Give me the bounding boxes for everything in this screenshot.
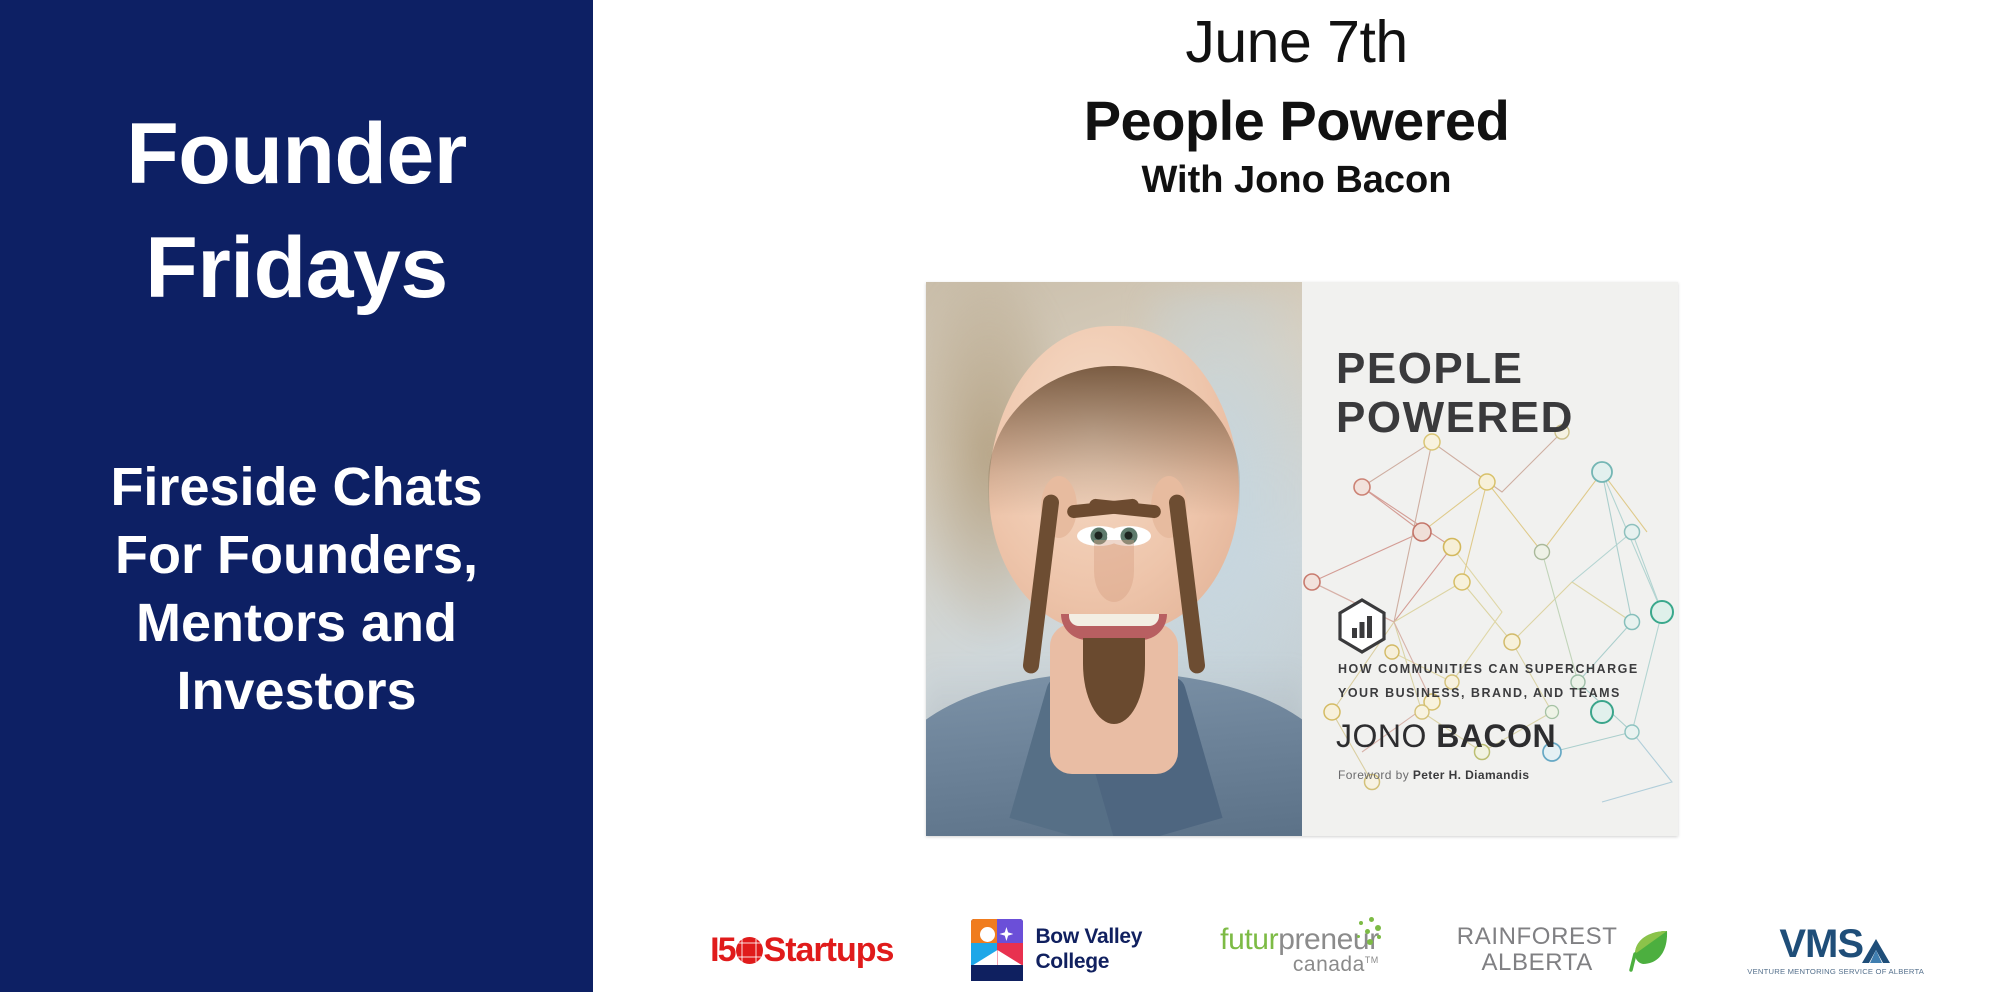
headline-block: June 7th People Powered With Jono Bacon [593,12,2000,202]
brand-title-line-2: Fridays [28,212,565,326]
logo-150-mark: I5 [710,931,734,970]
book-foreword: Foreword by Peter H. Diamandis [1338,768,1529,782]
vmsa-wordmark: VMS [1779,924,1893,964]
rainforest-line-2: ALBERTA [1457,950,1618,976]
speaker-nose [1094,540,1134,602]
bow-valley-wordmark: Bow Valley College [1035,925,1142,975]
brand-tagline-line-1: Fireside Chats [28,453,565,521]
brand-panel: Founder Fridays Fireside Chats For Found… [0,0,593,992]
content-panel: June 7th People Powered With Jono Bacon [593,0,2000,1000]
book-title-line-2: POWERED [1336,393,1574,442]
book-foreword-prefix: Foreword by [1338,768,1413,782]
book-subtitle-line-2: YOUR BUSINESS, BRAND, AND TEAMS [1338,682,1639,706]
brand-tagline-line-2: For Founders, [28,521,565,589]
event-title: People Powered [593,90,2000,153]
rainforest-wordmark: RAINFOREST ALBERTA [1457,924,1618,977]
media-strip: PEOPLE POWERED HOW COMMUNITIES CAN SUPER… [926,282,1678,836]
bow-valley-shield-icon [971,919,1023,981]
sponsor-logo-vmsa[interactable]: VMS VENTURE MENTORING SERVICE OF ALBERTA [1749,924,1922,976]
leaf-icon [1627,928,1671,972]
futurpreneur-dots-icon [1339,917,1385,951]
speaker-photo [926,282,1302,836]
speaker-hair [988,366,1240,516]
event-speaker: With Jono Bacon [593,159,2000,203]
book-title: PEOPLE POWERED [1336,344,1574,443]
book-subtitle: HOW COMMUNITIES CAN SUPERCHARGE YOUR BUS… [1338,658,1639,706]
book-author-last: BACON [1436,718,1556,754]
brand-title-line-1: Founder [28,98,565,212]
event-date: June 7th [593,12,2000,74]
vmsa-acronym: VMS [1779,924,1863,964]
speaker-mouth [1061,614,1167,640]
sponsor-logo-bar: I5Startups Bow Valley College futurprene… [593,900,2000,1000]
speaker-head [989,326,1239,632]
vmsa-mountain-icon [1859,937,1893,964]
futurpreneur-part-green: futur [1220,923,1278,956]
book-subtitle-line-1: HOW COMMUNITIES CAN SUPERCHARGE [1338,658,1639,682]
bvc-line-2: College [1035,950,1142,975]
book-author-first: JONO [1336,718,1436,754]
brand-title: Founder Fridays [28,98,565,325]
brand-tagline: Fireside Chats For Founders, Mentors and… [28,453,565,725]
sponsor-logo-150-startups[interactable]: I5Startups [710,931,893,970]
globe-icon [736,937,763,964]
bvc-line-1: Bow Valley [1035,925,1142,950]
brand-tagline-line-4: Investors [28,657,565,725]
book-hexagon-badge [1340,600,1384,652]
book-cover: PEOPLE POWERED HOW COMMUNITIES CAN SUPER… [1302,282,1678,836]
vmsa-tagline: VENTURE MENTORING SERVICE OF ALBERTA [1748,967,1925,976]
sponsor-logo-bow-valley-college[interactable]: Bow Valley College [971,919,1142,981]
event-poster: Founder Fridays Fireside Chats For Found… [0,0,2000,1000]
sponsor-logo-rainforest-alberta[interactable]: RAINFOREST ALBERTA [1457,924,1672,977]
futurpreneur-canada: canada [1293,953,1365,976]
book-foreword-name: Peter H. Diamandis [1413,768,1530,782]
sponsor-logo-futurpreneur-canada[interactable]: futurpreneur canadaTM [1220,923,1379,977]
rainforest-line-1: RAINFOREST [1457,924,1618,950]
brand-tagline-line-3: Mentors and [28,589,565,657]
book-title-line-1: PEOPLE [1336,344,1574,393]
futurpreneur-tm: TM [1365,955,1379,965]
logo-150-word: Startups [764,931,894,970]
book-author: JONO BACON [1336,718,1556,755]
